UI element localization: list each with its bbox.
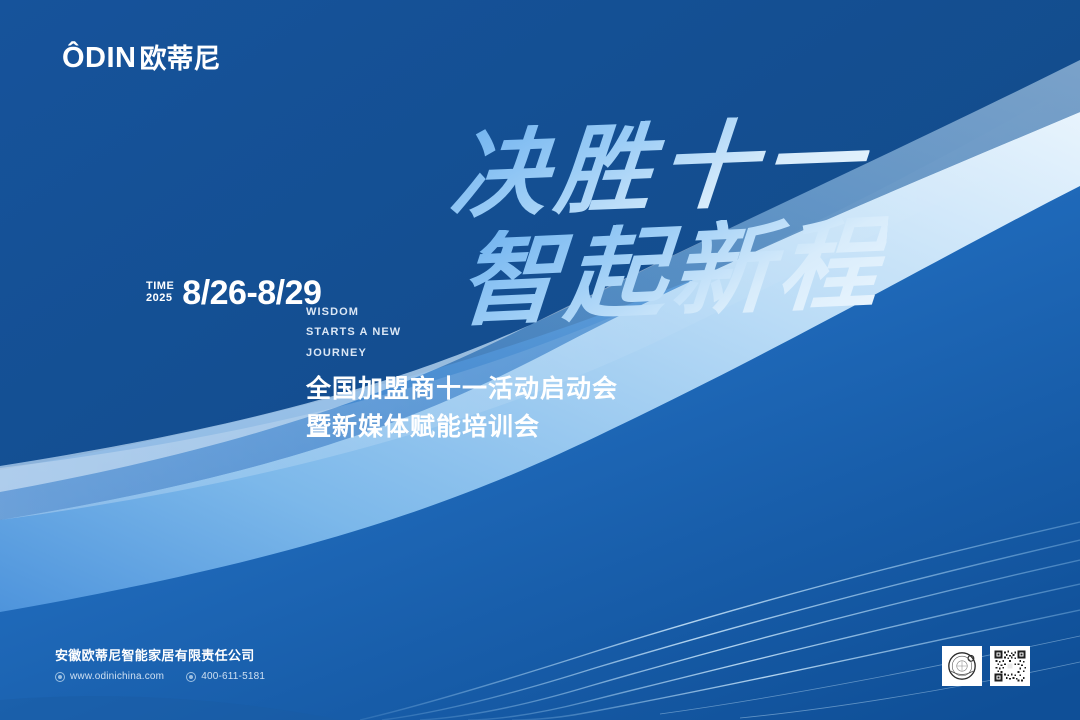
company-name: 安徽欧蒂尼智能家居有限责任公司: [55, 648, 265, 666]
badge-group: [942, 646, 1030, 686]
event-subtitle: 全国加盟商十一活动启动会 暨新媒体赋能培训会: [306, 370, 618, 445]
tagline-line-3: JOURNEY: [306, 343, 401, 363]
subtitle-line-1: 全国加盟商十一活动启动会: [306, 370, 618, 408]
english-tagline: WISDOM STARTS A NEW JOURNEY: [306, 302, 401, 363]
website-contact[interactable]: www.odinichina.com: [55, 671, 164, 682]
tagline-line-1: WISDOM: [306, 302, 401, 322]
company-seal-badge[interactable]: [942, 646, 982, 686]
date-range: 8/26-8/29: [182, 276, 321, 310]
event-date-block: TIME 2025 8/26-8/29: [146, 276, 321, 310]
phone-text: 400-611-5181: [201, 671, 265, 682]
phone-contact[interactable]: 400-611-5181: [186, 671, 265, 682]
brand-logo: ÔDIN 欧蒂尼: [62, 44, 221, 73]
subtitle-line-2: 暨新媒体赋能培训会: [306, 408, 618, 446]
brand-logo-latin: ÔDIN: [62, 44, 137, 73]
headline-line-2: 智起新程: [455, 212, 889, 331]
globe-icon: [55, 672, 65, 682]
phone-icon: [186, 672, 196, 682]
circular-seal-icon: [945, 649, 979, 683]
qr-code-icon: [993, 649, 1027, 683]
date-label-year: 2025: [146, 293, 174, 305]
date-label: TIME 2025: [146, 281, 174, 304]
tagline-line-2: STARTS A NEW: [306, 322, 401, 342]
website-text: www.odinichina.com: [70, 671, 164, 682]
footer-block: 安徽欧蒂尼智能家居有限责任公司 www.odinichina.com 400-6…: [55, 648, 265, 682]
brand-logo-chinese: 欧蒂尼: [140, 46, 221, 73]
wechat-qr-badge[interactable]: [990, 646, 1030, 686]
contact-row: www.odinichina.com 400-611-5181: [55, 671, 265, 682]
background-wave-graphic: [0, 0, 1080, 720]
poster-canvas: ÔDIN 欧蒂尼 决胜十一 智起新程 TIME 2025 8/26-8/29 W…: [0, 0, 1080, 720]
